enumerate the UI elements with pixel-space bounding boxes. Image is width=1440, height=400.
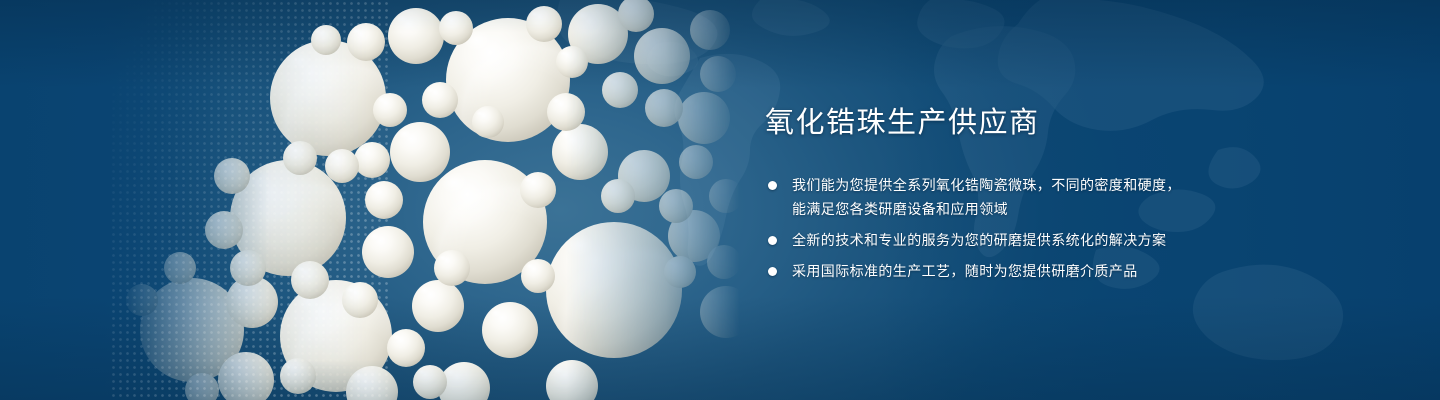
bullet-dot-icon bbox=[768, 181, 777, 190]
list-item: 我们能为您提供全系列氧化锆陶瓷微珠，不同的密度和硬度， 能满足您各类研磨设备和应… bbox=[765, 174, 1285, 220]
list-item-line: 全新的技术和专业的服务为您的研磨提供系统化的解决方案 bbox=[792, 229, 1285, 251]
list-item: 全新的技术和专业的服务为您的研磨提供系统化的解决方案 bbox=[765, 229, 1285, 251]
bullet-dot-icon bbox=[768, 236, 777, 245]
list-item: 采用国际标准的生产工艺，随时为您提供研磨介质产品 bbox=[765, 260, 1285, 282]
page-title: 氧化锆珠生产供应商 bbox=[765, 104, 1285, 142]
banner-copy: 氧化锆珠生产供应商 我们能为您提供全系列氧化锆陶瓷微珠，不同的密度和硬度， 能满… bbox=[765, 104, 1285, 282]
list-item-line: 能满足您各类研磨设备和应用领域 bbox=[792, 198, 1285, 220]
feature-list: 我们能为您提供全系列氧化锆陶瓷微珠，不同的密度和硬度， 能满足您各类研磨设备和应… bbox=[765, 174, 1285, 282]
hero-banner: 氧化锆珠生产供应商 我们能为您提供全系列氧化锆陶瓷微珠，不同的密度和硬度， 能满… bbox=[0, 0, 1440, 400]
list-item-line: 采用国际标准的生产工艺，随时为您提供研磨介质产品 bbox=[792, 260, 1285, 282]
list-item-line: 我们能为您提供全系列氧化锆陶瓷微珠，不同的密度和硬度， bbox=[792, 174, 1285, 196]
zirconia-beads-photo bbox=[120, 0, 740, 400]
bullet-dot-icon bbox=[768, 267, 777, 276]
